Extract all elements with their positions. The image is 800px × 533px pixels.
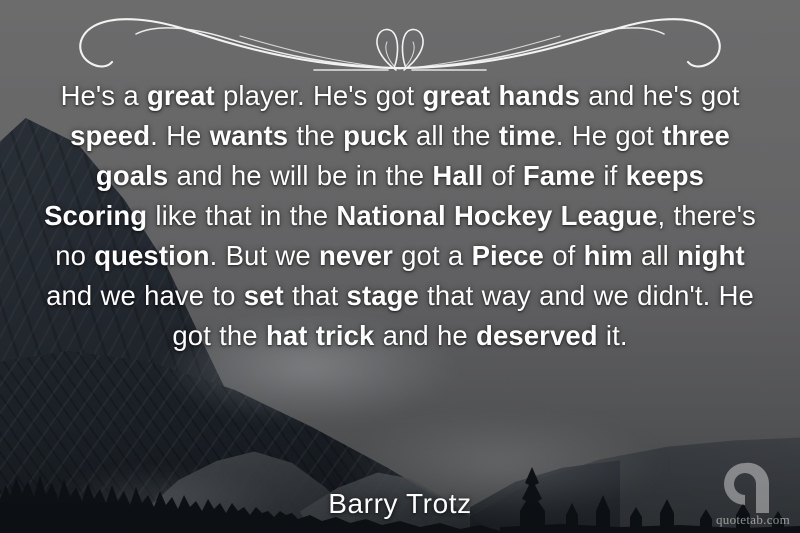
- quote-emphasis-word: time: [499, 120, 556, 151]
- quote-emphasis-word: trick: [316, 320, 375, 351]
- quote-emphasis-word: him: [584, 240, 633, 271]
- quotetab-logo-icon: [722, 461, 778, 513]
- quote-emphasis-word: deserved: [476, 320, 598, 351]
- quote-emphasis-word: set: [244, 280, 284, 311]
- quote-emphasis-word: three: [662, 120, 730, 151]
- quote-emphasis-word: Fame: [523, 160, 595, 191]
- quote-emphasis-word: night: [677, 240, 745, 271]
- quote-emphasis-word: hat: [266, 320, 308, 351]
- watermark-site-label: quotetab.com: [716, 512, 790, 527]
- quote-emphasis-word: great: [423, 80, 491, 111]
- quote-card: He's a great player. He's got great hand…: [0, 0, 800, 533]
- quote-emphasis-word: National: [336, 200, 445, 231]
- quote-emphasis-word: puck: [343, 120, 408, 151]
- quote-emphasis-word: speed: [70, 120, 150, 151]
- quote-emphasis-word: question: [94, 240, 209, 271]
- quote-emphasis-word: never: [319, 240, 393, 271]
- quote-emphasis-word: Hall: [432, 160, 483, 191]
- quote-emphasis-word: stage: [347, 280, 419, 311]
- quote-emphasis-word: great: [147, 80, 215, 111]
- quote-emphasis-word: League: [561, 200, 658, 231]
- quote-emphasis-word: goals: [96, 160, 168, 191]
- watermark[interactable]: quotetab.com: [696, 461, 792, 529]
- quote-text: He's a great player. He's got great hand…: [44, 76, 756, 356]
- quote-emphasis-word: Piece: [472, 240, 544, 271]
- quote-emphasis-word: wants: [210, 120, 288, 151]
- quote-emphasis-word: keeps: [626, 160, 704, 191]
- quote-emphasis-word: Hockey: [454, 200, 552, 231]
- decorative-flourish-ornament: [64, 12, 736, 74]
- quote-emphasis-word: hands: [499, 80, 580, 111]
- quote-author: Barry Trotz: [0, 487, 800, 521]
- quote-emphasis-word: Scoring: [44, 200, 147, 231]
